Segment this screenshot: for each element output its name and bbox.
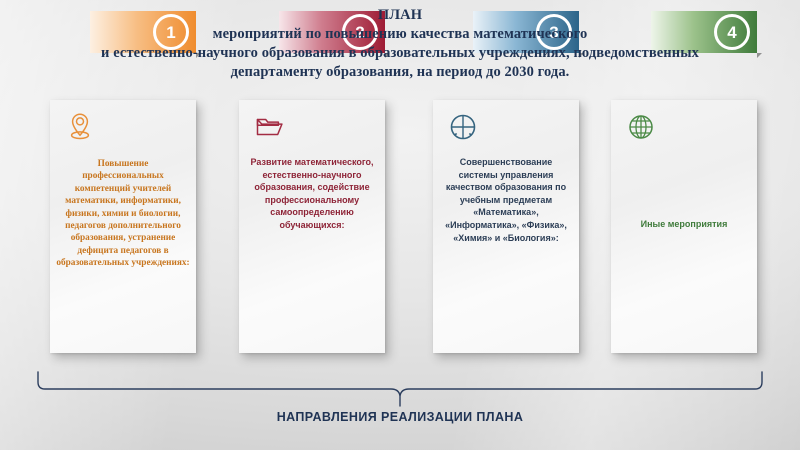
card-direction-3[interactable]: Совершенствование системы управления кач…	[433, 100, 579, 353]
card-direction-2[interactable]: Развитие математического, естественно-на…	[239, 100, 385, 353]
location-pin-icon	[63, 110, 97, 144]
card-1-text: Повышение профессиональных компетенций у…	[56, 158, 190, 270]
card-3-text: Совершенствование системы управления кач…	[439, 156, 573, 244]
brace-label: НАПРАВЛЕНИЯ РЕАЛИЗАЦИИ ПЛАНА	[0, 410, 800, 424]
card-2-text: Развитие математического, естественно-на…	[245, 156, 379, 232]
folder-icon	[252, 110, 286, 144]
globe-icon	[624, 110, 658, 144]
title-heading: ПЛАН	[0, 6, 800, 25]
brace-bracket	[36, 370, 764, 408]
title-line-2: мероприятий по повышению качества матема…	[0, 25, 800, 44]
page-title: ПЛАН мероприятий по повышению качества м…	[0, 6, 800, 82]
card-direction-4[interactable]: Иные мероприятия	[611, 100, 757, 353]
title-line-4: департаменту образования, на период до 2…	[0, 63, 800, 82]
title-line-3: и естественно-научного образования в обр…	[0, 44, 800, 63]
slide-canvas: ПЛАН мероприятий по повышению качества м…	[0, 0, 800, 450]
card-direction-1[interactable]: Повышение профессиональных компетенций у…	[50, 100, 196, 353]
clock-icon	[446, 110, 480, 144]
card-4-text: Иные мероприятия	[617, 218, 751, 231]
